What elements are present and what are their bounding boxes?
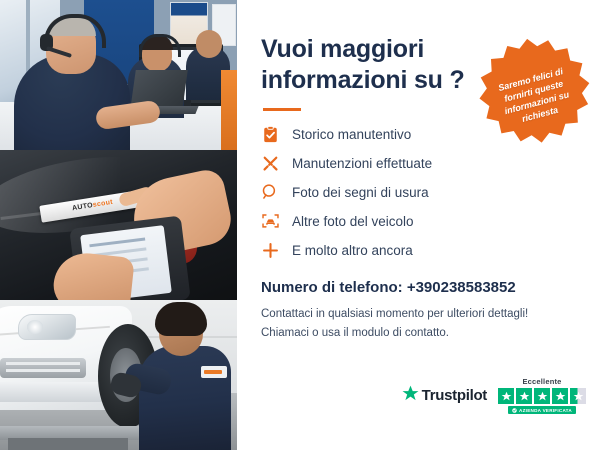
magnifier-icon (261, 183, 279, 201)
content-panel: Vuoi maggiori informazioni su ? Saremo f… (237, 0, 600, 450)
trustpilot-rating-label: Eccellente (522, 377, 561, 386)
star-icon (498, 388, 514, 404)
trustpilot-logo: Trustpilot (402, 385, 487, 407)
phone-number[interactable]: Numero di telefono: +390238583852 (261, 279, 578, 296)
trustpilot-score-block: Eccellente (498, 377, 586, 414)
feature-label: E molto altro ancora (292, 243, 413, 258)
page-title: Vuoi maggiori informazioni su ? (261, 34, 476, 95)
feature-item-manutenzioni-effettuate: Manutenzioni effettuate (261, 154, 578, 172)
trustpilot-wordmark: Trustpilot (422, 387, 487, 404)
vehicle-inspection-tablet-photo: AUTOscout (0, 150, 237, 300)
promo-panel: AUTOscout Vuoi maggiori informazioni su … (0, 0, 600, 450)
verified-label: AZIENDA VERIFICATA (519, 408, 572, 413)
contact-line-2: Chiamaci o usa il modulo di contatto. (261, 324, 578, 343)
feature-label: Storico manutentivo (292, 127, 411, 142)
feature-item-altre-foto-veicolo: Altre foto del veicolo (261, 212, 578, 230)
check-circle-icon (512, 408, 517, 413)
title-divider (263, 108, 301, 111)
star-icon (516, 388, 532, 404)
feature-label: Altre foto del veicolo (292, 214, 414, 229)
feature-label: Manutenzioni effettuate (292, 156, 432, 171)
clipboard-check-icon (261, 125, 279, 143)
star-icon (552, 388, 568, 404)
photo-column: AUTOscout (0, 0, 237, 450)
star-icon-partial (570, 388, 586, 404)
feature-item-molto-altro: E molto altro ancora (261, 241, 578, 259)
feature-label: Foto dei segni di usura (292, 185, 429, 200)
verified-company-badge: AZIENDA VERIFICATA (508, 406, 576, 414)
mechanic-wheel-check-photo (0, 300, 237, 450)
callout-badge-text: Saremo felici di fornirti queste informa… (491, 64, 579, 131)
plus-icon (261, 241, 279, 259)
car-scan-icon (261, 212, 279, 230)
star-rating (498, 388, 586, 404)
tools-wrench-screwdriver-icon (261, 154, 279, 172)
feature-item-foto-segni-usura: Foto dei segni di usura (261, 183, 578, 201)
star-icon (534, 388, 550, 404)
trustpilot-star-icon (402, 385, 419, 407)
trustpilot-rating[interactable]: Trustpilot Eccellente (402, 377, 586, 414)
contact-line-1: Contattaci in qualsiasi momento per ulte… (261, 305, 578, 324)
callout-badge: Saremo felici di fornirti queste informa… (468, 28, 600, 161)
call-center-agents-photo (0, 0, 237, 150)
